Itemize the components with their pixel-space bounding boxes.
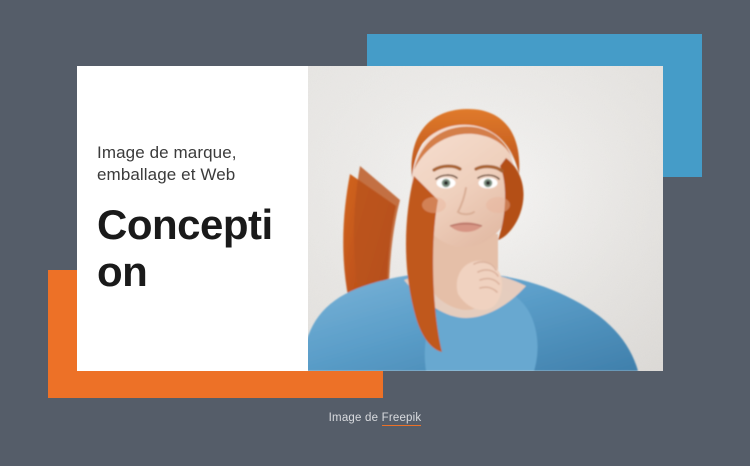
image-credit-caption: Image de Freepik bbox=[0, 412, 750, 424]
caption-source-link[interactable]: Freepik bbox=[382, 412, 422, 426]
hero-text-panel: Image de marque, emballage et Web Concep… bbox=[77, 66, 308, 371]
hero-photo bbox=[308, 66, 663, 371]
hero-card: Image de marque, emballage et Web Concep… bbox=[77, 66, 663, 371]
hero-headline: Conception bbox=[97, 201, 288, 295]
portrait-illustration bbox=[308, 66, 663, 371]
page-canvas: Image de marque, emballage et Web Concep… bbox=[0, 0, 750, 466]
caption-prefix: Image de bbox=[329, 412, 382, 424]
hero-eyebrow: Image de marque, emballage et Web bbox=[97, 142, 288, 188]
